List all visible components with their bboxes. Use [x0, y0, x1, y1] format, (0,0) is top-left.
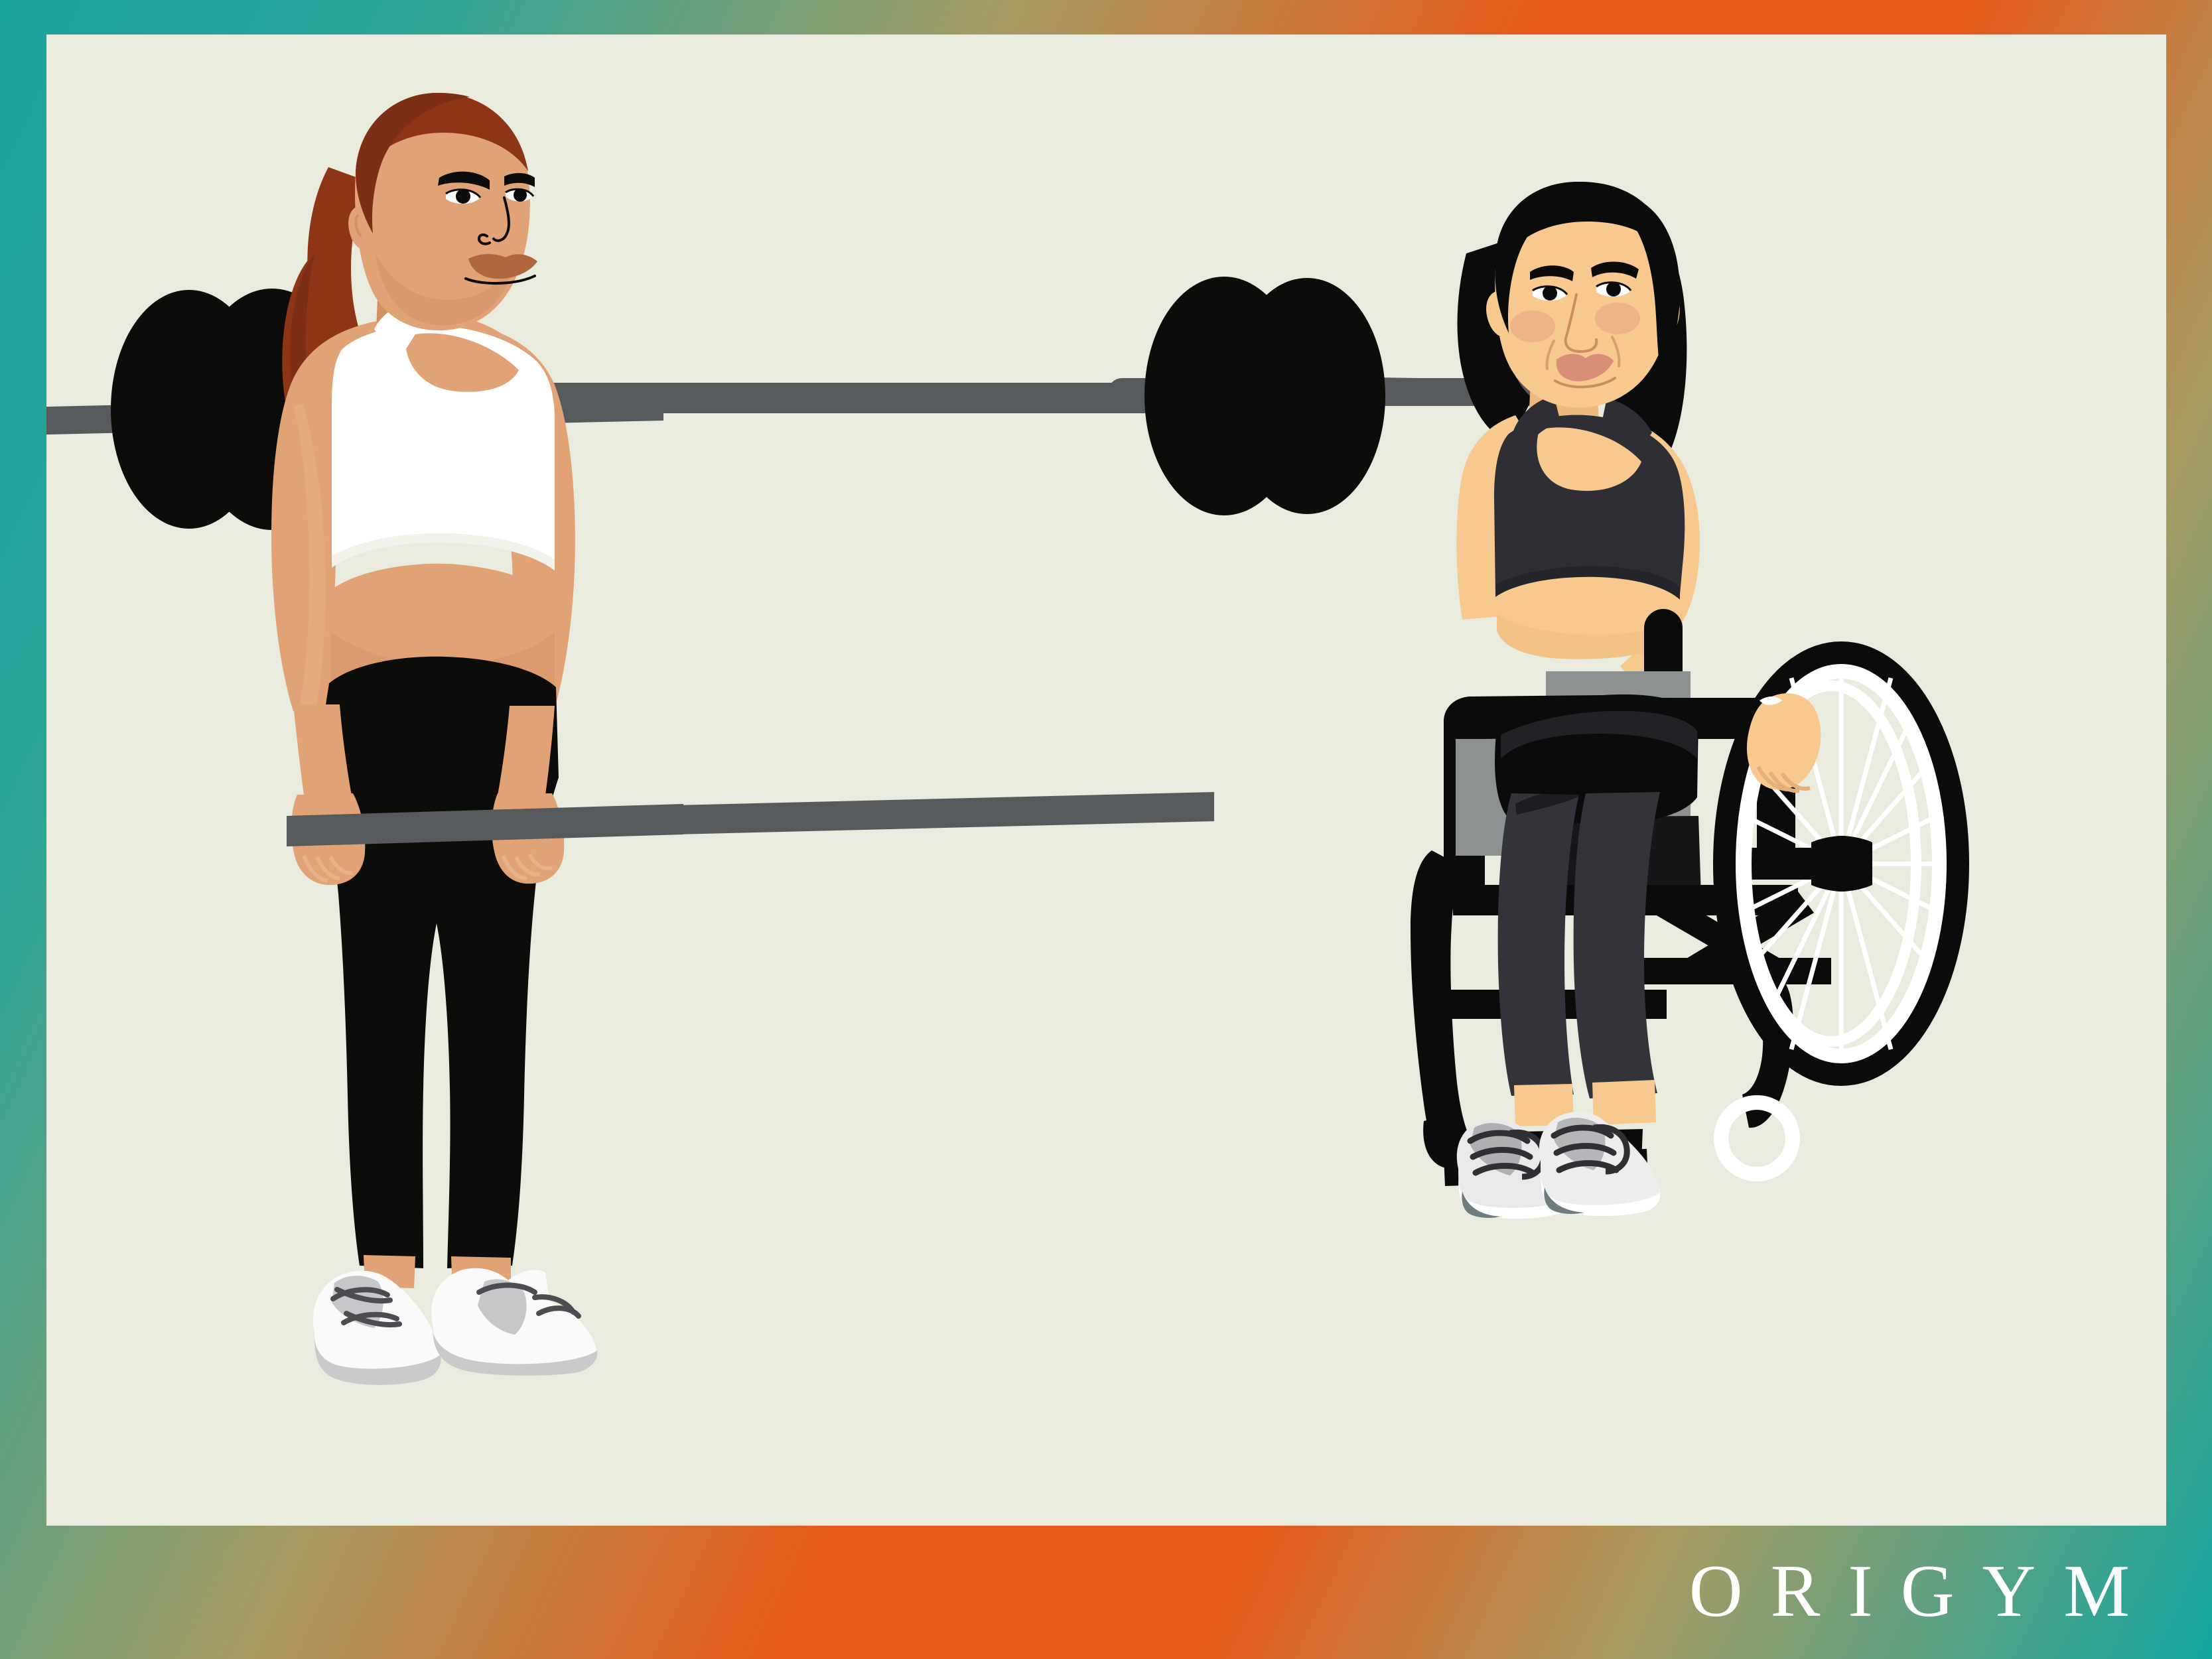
illustration-panel	[46, 34, 2166, 1526]
shoe-left	[313, 1271, 441, 1385]
shoe-right	[431, 1268, 597, 1376]
cheek-left	[1510, 310, 1555, 342]
shoe-seated-right	[1539, 1112, 1661, 1216]
barbell-plate-right-outer	[1229, 278, 1385, 514]
figure-deadlift-woman	[271, 93, 1214, 1385]
figure-wheelchair-woman	[1411, 182, 1954, 1219]
gym-illustration	[46, 34, 2166, 1526]
origym-wordmark: ORIGYM	[1661, 1554, 2158, 1628]
wheelchair	[1411, 609, 1954, 1219]
wheel-hub	[1811, 836, 1872, 892]
poster-canvas: ORIGYM	[0, 0, 2212, 1659]
cheek-right	[1595, 302, 1640, 334]
head	[348, 93, 537, 330]
sports-bra-white	[332, 297, 555, 570]
